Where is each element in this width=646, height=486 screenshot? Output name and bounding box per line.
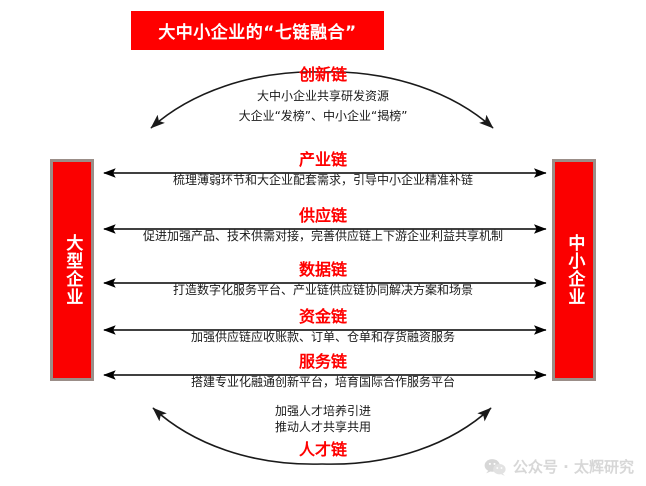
talent-chain-label: 人才链 bbox=[123, 441, 523, 459]
chain-label-service: 服务链 bbox=[96, 354, 550, 371]
talent-chain-desc-line2: 推动人才共享共用 bbox=[123, 419, 523, 435]
chain-desc-capital: 加强供应链应收账款、订单、仓单和存货融资服务 bbox=[96, 331, 550, 344]
title-banner: 大中小企业的“七链融合” bbox=[131, 11, 384, 50]
chain-row-supply: 供应链 促进加强产品、技术供需对接，完善供应链上下游企业利益共享机制 bbox=[96, 208, 550, 243]
innovation-chain-desc-line2: 大企业“发榜”、中小企业“揭榜” bbox=[123, 108, 523, 124]
watermark: 公众号 · 太辉研究 bbox=[484, 456, 634, 477]
chain-desc-service: 搭建专业化融通创新平台，培育国际合作服务平台 bbox=[96, 376, 550, 389]
right-entity-label: 中小企业 bbox=[564, 234, 585, 306]
innovation-chain-block: 创新链 大中小企业共享研发资源 大企业“发榜”、中小企业“揭榜” bbox=[123, 66, 523, 124]
right-entity-box-sme: 中小企业 bbox=[552, 159, 596, 381]
chain-label-industry: 产业链 bbox=[96, 152, 550, 169]
chain-desc-supply: 促进加强产品、技术供需对接，完善供应链上下游企业利益共享机制 bbox=[96, 230, 550, 243]
chain-desc-industry: 梳理薄弱环节和大企业配套需求，引导中小企业精准补链 bbox=[96, 174, 550, 187]
left-entity-label: 大型企业 bbox=[62, 234, 83, 306]
talent-chain-block: 加强人才培养引进 推动人才共享共用 人才链 bbox=[123, 403, 523, 459]
innovation-chain-label: 创新链 bbox=[123, 66, 523, 84]
wechat-icon bbox=[484, 458, 506, 476]
innovation-chain-desc-line1: 大中小企业共享研发资源 bbox=[123, 88, 523, 104]
talent-chain-desc-line1: 加强人才培养引进 bbox=[123, 403, 523, 419]
page-title: 大中小企业的“七链融合” bbox=[158, 18, 356, 43]
seven-chain-integration-diagram: 大中小企业的“七链融合” 大型企业 中小企业 bbox=[0, 0, 646, 486]
chain-row-data: 数据链 打造数字化服务平台、产业链供应链协同解决方案和场景 bbox=[96, 262, 550, 297]
chain-row-industry: 产业链 梳理薄弱环节和大企业配套需求，引导中小企业精准补链 bbox=[96, 152, 550, 187]
chain-label-capital: 资金链 bbox=[96, 309, 550, 326]
left-entity-box-large-enterprise: 大型企业 bbox=[50, 159, 94, 381]
chain-desc-data: 打造数字化服务平台、产业链供应链协同解决方案和场景 bbox=[96, 284, 550, 297]
chain-row-service: 服务链 搭建专业化融通创新平台，培育国际合作服务平台 bbox=[96, 354, 550, 389]
watermark-text: 公众号 · 太辉研究 bbox=[513, 456, 634, 477]
chain-row-capital: 资金链 加强供应链应收账款、订单、仓单和存货融资服务 bbox=[96, 309, 550, 344]
chain-label-supply: 供应链 bbox=[96, 208, 550, 225]
chain-label-data: 数据链 bbox=[96, 262, 550, 279]
